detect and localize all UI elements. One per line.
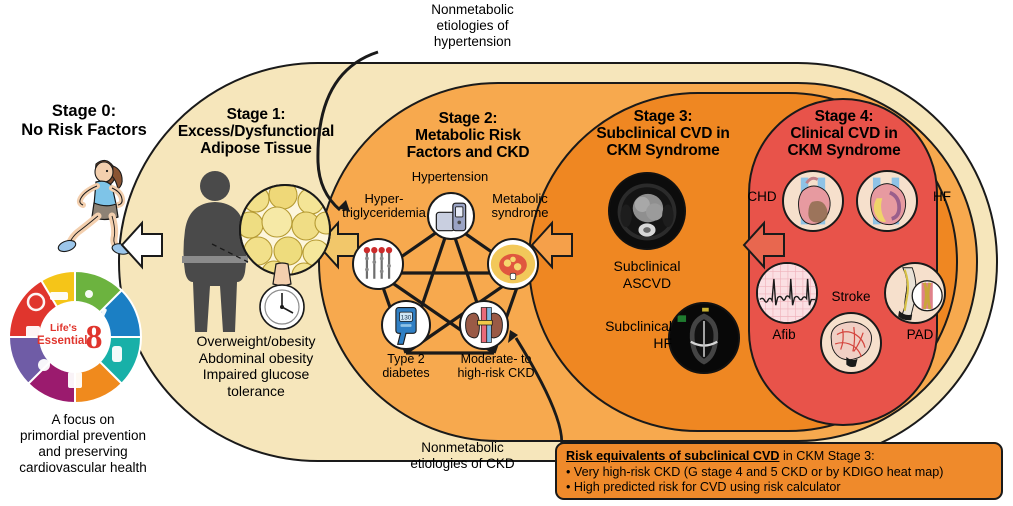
stage-4-title: Stage 4: Clinical CVD in CKM Syndrome [762, 108, 926, 159]
svg-text:8: 8 [86, 319, 103, 356]
stage-0-title: Stage 0: No Risk Factors [6, 102, 162, 140]
stage-4-label-chd: CHD [740, 190, 784, 204]
echocardiogram-icon [668, 302, 740, 374]
risk-box-header-rest: in CKM Stage 3: [779, 449, 874, 463]
stage-1-body: Overweight/obesity Abdominal obesity Imp… [168, 333, 344, 399]
stage-4-label-afib: Afib [754, 328, 814, 342]
waist-tape-icon [252, 262, 312, 334]
stage-4-label-pad: PAD [890, 328, 950, 342]
stage-1-title: Stage 1: Excess/Dysfunctional Adipose Ti… [168, 106, 344, 157]
heart-failure-icon [856, 170, 918, 232]
stage-2-title: Stage 2: Metabolic Risk Factors and CKD [383, 110, 553, 161]
risk-box-bullet-1: • Very high-risk CKD (G stage 4 and 5 CK… [566, 465, 992, 481]
glucometer-icon: 130 [381, 300, 431, 350]
annotation-hypertension: Nonmetabolic etiologies of hypertension [385, 2, 560, 50]
abdominal-fat-ct-icon [487, 238, 539, 290]
stage-3-label-hf: Subclinical HF [590, 318, 672, 351]
node-label-metabolic-syndrome: Metabolic syndrome [480, 192, 560, 220]
svg-text:Essential: Essential [37, 335, 88, 347]
ecg-strip-icon [756, 262, 818, 324]
stage-4-label-stroke: Stroke [814, 290, 888, 304]
kidneys-icon [459, 300, 509, 350]
risk-equivalents-box: Risk equivalents of subclinical CVD in C… [555, 442, 1003, 500]
running-woman-icon [52, 150, 134, 260]
node-label-ckd: Moderate- to high-risk CKD [441, 352, 551, 380]
brain-icon [820, 312, 882, 374]
node-label-hypertension: Hypertension [390, 170, 510, 184]
blood-pressure-monitor-icon [427, 192, 475, 240]
svg-text:130: 130 [401, 314, 412, 321]
heart-infarct-icon [782, 170, 844, 232]
lifes-essential-8-wheel: Life's Essential 8 [6, 268, 144, 406]
chest-ct-scan-icon [608, 172, 686, 250]
stage-3-title: Stage 3: Subclinical CVD in CKM Syndrome [578, 108, 748, 159]
risk-box-header: Risk equivalents of subclinical CVD in C… [566, 449, 992, 465]
triglyceride-molecule-icon [352, 238, 404, 290]
node-label-hypertriglyceridemia: Hyper- triglyceridemia [334, 192, 434, 220]
svg-text:Life's: Life's [50, 322, 77, 334]
annotation-ckd: Nonmetabolic etiologies of CKD [370, 440, 555, 472]
node-label-type2-diabetes: Type 2 diabetes [360, 352, 452, 380]
leg-artery-icon [884, 262, 946, 324]
risk-box-header-bold: Risk equivalents of subclinical CVD [566, 449, 779, 463]
stage-3-label-ascvd: Subclinical ASCVD [582, 258, 712, 291]
risk-box-bullet-2: • High predicted risk for CVD using risk… [566, 480, 992, 496]
stage-0-footer: A focus on primordial prevention and pre… [0, 412, 166, 476]
stage-4-label-hf: HF [920, 190, 964, 204]
